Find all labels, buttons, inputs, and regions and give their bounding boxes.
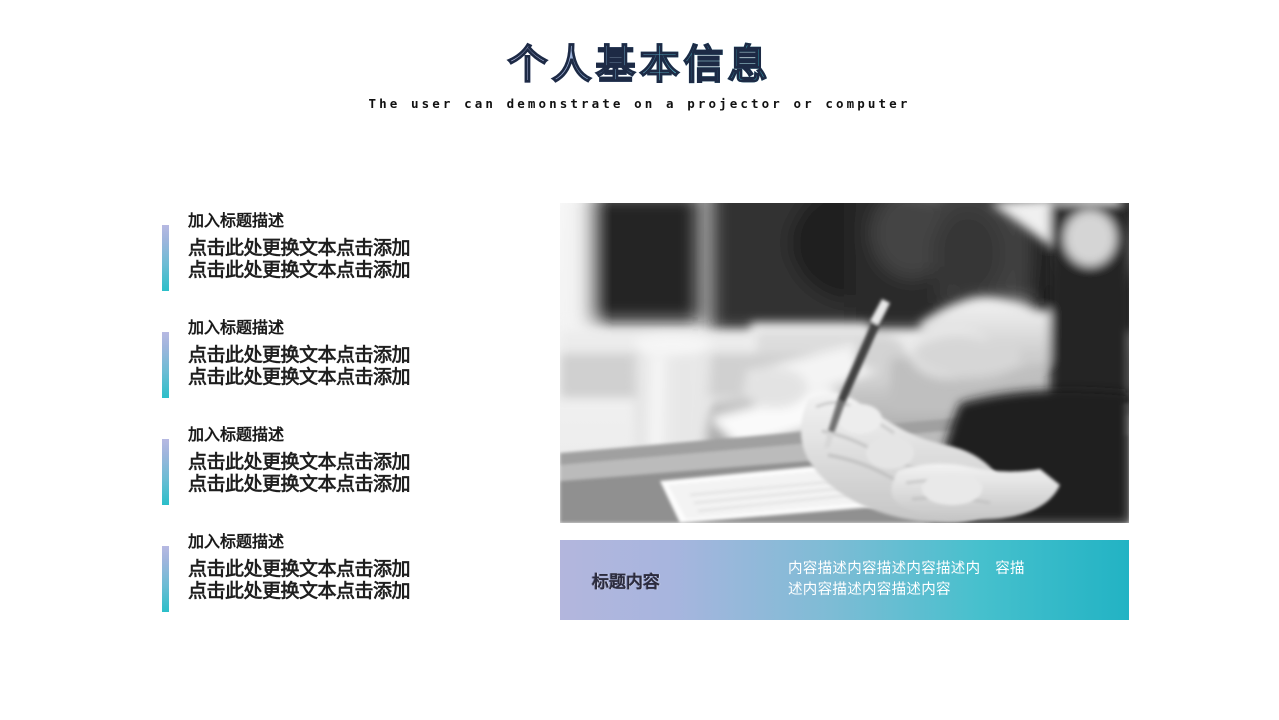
meeting-photo	[560, 203, 1129, 523]
gradient-accent-bar-icon	[162, 546, 169, 612]
list-item-title: 加入标题描述	[188, 425, 462, 445]
gradient-accent-bar-icon	[162, 439, 169, 505]
caption-title: 标题内容	[592, 568, 660, 593]
list-item[interactable]: 加入标题描述 点击此处更换文本点击添加 点击此处更换文本点击添加	[162, 211, 462, 318]
list-item-body-line: 点击此处更换文本点击添加	[188, 580, 462, 602]
list-item-title: 加入标题描述	[188, 211, 462, 231]
gradient-accent-bar-icon	[162, 332, 169, 398]
page-title: 个人基本信息	[508, 42, 772, 88]
list-item-body-line: 点击此处更换文本点击添加	[188, 259, 462, 281]
list-item-body: 点击此处更换文本点击添加 点击此处更换文本点击添加	[188, 558, 462, 602]
list-item-body-line: 点击此处更换文本点击添加	[188, 344, 462, 366]
page-subtitle: The user can demonstrate on a projector …	[0, 96, 1279, 111]
list-item-body: 点击此处更换文本点击添加 点击此处更换文本点击添加	[188, 344, 462, 388]
gradient-accent-bar-icon	[162, 225, 169, 291]
list-item-body-line: 点击此处更换文本点击添加	[188, 366, 462, 388]
slide-root: 个人基本信息 The user can demonstrate on a pro…	[0, 0, 1279, 720]
caption-body: 内容描述内容描述内容描述内 容描 述内容描述内容描述内容	[788, 559, 1108, 601]
list-item-body: 点击此处更换文本点击添加 点击此处更换文本点击添加	[188, 451, 462, 495]
list-item-title: 加入标题描述	[188, 318, 462, 338]
list-item[interactable]: 加入标题描述 点击此处更换文本点击添加 点击此处更换文本点击添加	[162, 318, 462, 425]
list-item-body-line: 点击此处更换文本点击添加	[188, 558, 462, 580]
list-item-body: 点击此处更换文本点击添加 点击此处更换文本点击添加	[188, 237, 462, 281]
list-item[interactable]: 加入标题描述 点击此处更换文本点击添加 点击此处更换文本点击添加	[162, 425, 462, 532]
list-item-title: 加入标题描述	[188, 532, 462, 552]
caption-body-line: 内容描述内容描述内容描述内 容描	[788, 559, 1108, 580]
list-item-body-line: 点击此处更换文本点击添加	[188, 237, 462, 259]
list-item-body-line: 点击此处更换文本点击添加	[188, 451, 462, 473]
list-item[interactable]: 加入标题描述 点击此处更换文本点击添加 点击此处更换文本点击添加	[162, 532, 462, 639]
caption-bar[interactable]: 标题内容 内容描述内容描述内容描述内 容描 述内容描述内容描述内容	[560, 540, 1129, 620]
caption-body-line: 述内容描述内容描述内容	[788, 580, 1108, 601]
meeting-photo-illustration	[560, 203, 1129, 523]
list-item-body-line: 点击此处更换文本点击添加	[188, 473, 462, 495]
info-list: 加入标题描述 点击此处更换文本点击添加 点击此处更换文本点击添加 加入标题描述 …	[162, 211, 462, 639]
slide-header: 个人基本信息 The user can demonstrate on a pro…	[0, 42, 1279, 111]
